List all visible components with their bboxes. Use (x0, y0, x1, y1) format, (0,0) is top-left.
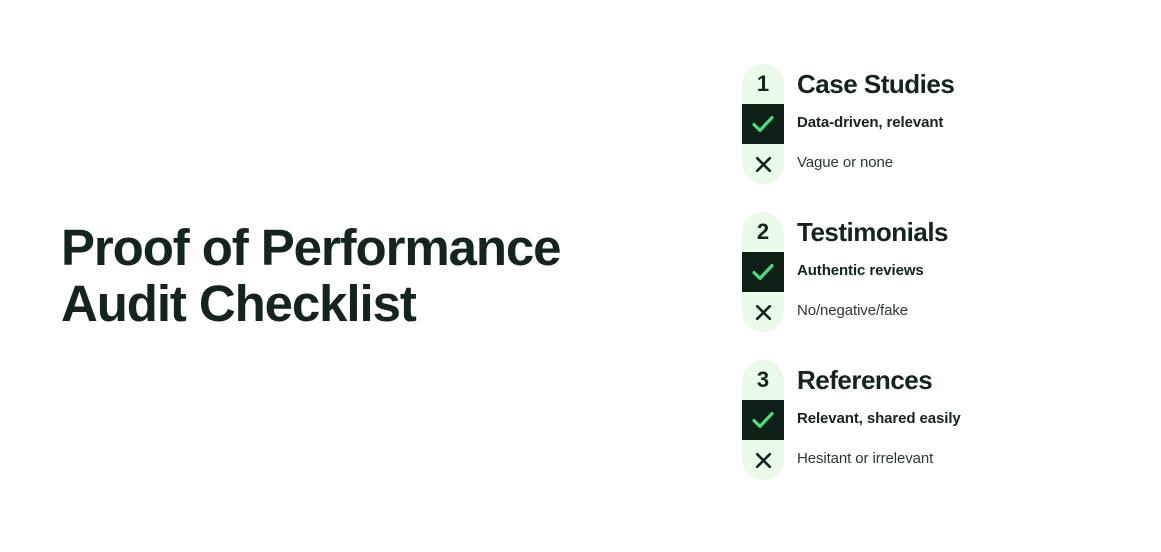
group-number-cell: 2 (742, 212, 784, 252)
group-good-criterion: Data-driven, relevant (797, 103, 954, 143)
group-good-criterion: Authentic reviews (797, 251, 948, 291)
page-title: Proof of Performance Audit Checklist (61, 220, 701, 332)
slide-canvas: Proof of Performance Audit Checklist 1 (0, 0, 1161, 552)
check-icon (742, 104, 784, 144)
group-text: Testimonials Authentic reviews No/negati… (797, 212, 948, 331)
check-icon (742, 400, 784, 440)
cross-icon (742, 144, 784, 184)
cross-icon (742, 440, 784, 480)
group-title: Case Studies (797, 65, 954, 103)
group-title: Testimonials (797, 213, 948, 251)
group-title: References (797, 361, 961, 399)
headline-column: Proof of Performance Audit Checklist (61, 0, 701, 552)
group-bad-criterion: Hesitant or irrelevant (797, 439, 961, 479)
group-text: Case Studies Data-driven, relevant Vague… (797, 64, 954, 183)
group-text: References Relevant, shared easily Hesit… (797, 360, 961, 479)
checklist-group: 3 References Relevant, shared easily Hes… (742, 360, 1132, 480)
group-number: 2 (757, 221, 769, 243)
marker-pill: 1 (742, 64, 784, 184)
marker-pill: 3 (742, 360, 784, 480)
marker-pill: 2 (742, 212, 784, 332)
group-number: 1 (757, 73, 769, 95)
cross-icon (742, 292, 784, 332)
checklist-group: 1 Case Studies Data-driven, relevant Vag… (742, 64, 1132, 184)
checklist: 1 Case Studies Data-driven, relevant Vag… (742, 64, 1132, 480)
group-bad-criterion: Vague or none (797, 143, 954, 183)
group-number: 3 (757, 369, 769, 391)
group-number-cell: 1 (742, 64, 784, 104)
check-icon (742, 252, 784, 292)
group-number-cell: 3 (742, 360, 784, 400)
group-good-criterion: Relevant, shared easily (797, 399, 961, 439)
group-bad-criterion: No/negative/fake (797, 291, 948, 331)
checklist-group: 2 Testimonials Authentic reviews No/nega… (742, 212, 1132, 332)
